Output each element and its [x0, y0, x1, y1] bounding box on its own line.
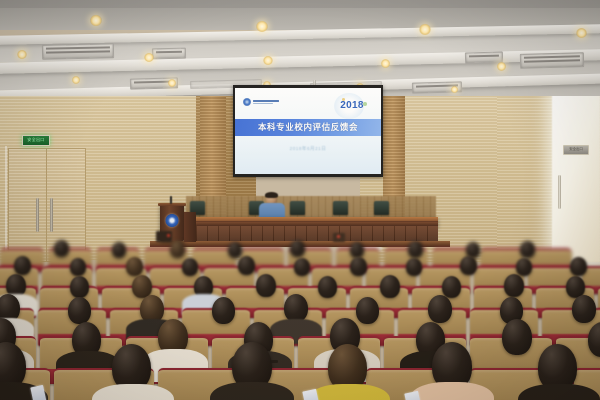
- audience-head: [14, 256, 31, 275]
- audience-head: [318, 276, 337, 298]
- audience-head: [256, 274, 276, 297]
- ceiling-spotlight-1: [90, 15, 102, 26]
- head-table-front-panel: [186, 226, 438, 242]
- lecture-hall-photo: 安全出口 安全出口: [0, 0, 600, 400]
- speaker-hair: [265, 192, 278, 198]
- wall-panel-far-right: [497, 74, 557, 254]
- audience-head: [212, 297, 235, 324]
- audience-head: [380, 275, 400, 298]
- audience-head: [570, 257, 587, 276]
- head-table-top: [186, 217, 438, 221]
- podium-side-cabinet: [184, 212, 196, 242]
- audience-head: [460, 256, 477, 275]
- ceiling-spotlight-5: [17, 50, 27, 59]
- door-handle-left[interactable]: [36, 198, 39, 232]
- audience-head: [520, 241, 535, 258]
- audience-head: [294, 258, 310, 276]
- ac-vent-2: [152, 48, 186, 60]
- deco-bubble-6: [342, 98, 345, 101]
- exit-sign-right: 安全出口: [563, 145, 589, 155]
- audience-head: [516, 258, 532, 276]
- audience-head: [70, 276, 89, 298]
- exit-sign-right-label: 安全出口: [564, 146, 588, 152]
- audience-head: [442, 276, 461, 298]
- ac-vent-4: [520, 52, 584, 69]
- audience-head: [290, 240, 305, 257]
- projection-screen: 2018 本科专业校内评估反馈会 2018年6月21日: [233, 85, 383, 177]
- ceiling: [0, 0, 600, 96]
- audience-head: [112, 242, 126, 258]
- exit-door-left-leaf[interactable]: [8, 148, 48, 262]
- exit-sign-left: 安全出口: [22, 135, 50, 146]
- audience-head: [504, 274, 524, 297]
- podium-top-surface: [158, 203, 186, 206]
- ceiling-spotlight-9: [497, 62, 506, 71]
- audience-head: [356, 297, 379, 324]
- audience-head: [350, 242, 364, 258]
- ceiling-spotlight-3: [419, 24, 431, 35]
- audience-head: [572, 295, 596, 323]
- ac-vent-1: [42, 43, 114, 60]
- right-door-handle: [558, 175, 561, 209]
- audience-head: [502, 319, 532, 355]
- university-logo-text: [253, 100, 279, 104]
- ceiling-spotlight-8: [381, 59, 390, 68]
- stage-chair-5[interactable]: [374, 201, 389, 215]
- university-logo-mark: [243, 98, 251, 106]
- audience-head: [126, 257, 143, 276]
- stage-indicator-light-2: [337, 235, 340, 238]
- podium-emblem: [166, 214, 179, 227]
- ceiling-spotlight-6: [144, 53, 154, 62]
- ceiling-spotlight-7: [263, 56, 273, 65]
- audience-head: [284, 294, 308, 322]
- ceiling-shadow-strip: [0, 0, 600, 8]
- university-logo: [243, 98, 279, 106]
- ac-vent-3: [465, 52, 503, 64]
- deco-bubble-5: [363, 102, 367, 106]
- stage-chair-4[interactable]: [333, 201, 348, 215]
- door-handle-right[interactable]: [50, 198, 53, 232]
- presentation-slide: 2018 本科专业校内评估反馈会 2018年6月21日: [235, 88, 381, 174]
- audience-head: [350, 257, 367, 276]
- audience-glasses: [270, 360, 278, 363]
- door-frame-trim: [5, 146, 7, 261]
- ceiling-spotlight-2: [256, 21, 268, 32]
- audience-head: [238, 256, 255, 275]
- exit-sign-left-label: 安全出口: [23, 136, 49, 143]
- ceiling-spotlight-11: [168, 79, 176, 87]
- podium-microphone: [170, 196, 172, 204]
- slide-year-label: 2018: [340, 100, 363, 111]
- audience-head: [182, 258, 198, 276]
- audience-head: [70, 258, 86, 276]
- slide-body-area: [235, 136, 381, 174]
- audience-head: [170, 241, 185, 258]
- ceiling-spotlight-14: [451, 86, 458, 93]
- audience-head: [228, 242, 242, 258]
- stage-indicator-light: [167, 234, 170, 237]
- audience-head: [408, 241, 423, 258]
- slide-date: 2018年6月21日: [235, 146, 381, 152]
- audience-head: [406, 258, 422, 276]
- ceiling-spotlight-4: [576, 28, 587, 38]
- slide-title: 本科专业校内评估反馈会: [235, 119, 381, 136]
- stage-chair-3[interactable]: [290, 201, 305, 215]
- audience-head: [54, 240, 69, 257]
- ceiling-spotlight-10: [72, 76, 80, 84]
- audience-head: [428, 295, 452, 323]
- audience-head: [68, 297, 91, 324]
